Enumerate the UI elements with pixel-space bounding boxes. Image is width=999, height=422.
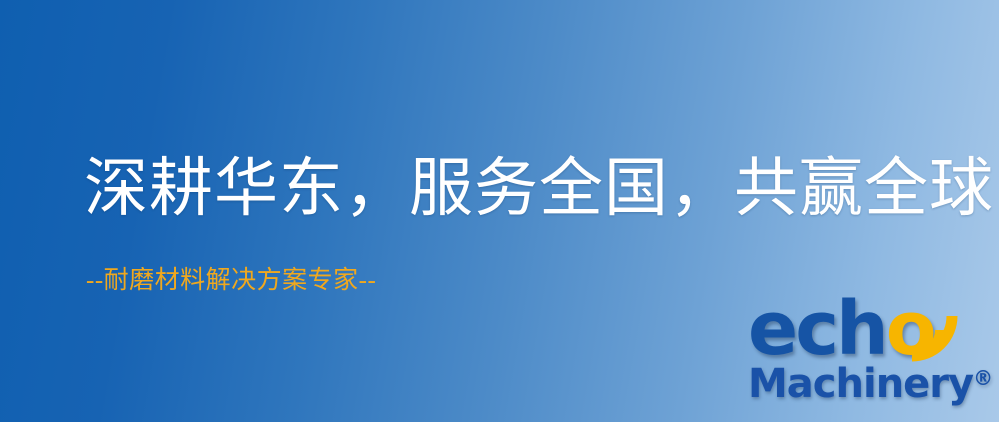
- logo-wordmark-prefix: ech: [748, 286, 886, 372]
- banner-headline: 深耕华东，服务全国，共赢全球: [84, 157, 994, 221]
- logo-subtext: Machinery®: [748, 364, 993, 404]
- promo-banner: 深耕华东，服务全国，共赢全球 --耐磨材料解决方案专家-- echo Machi…: [0, 0, 999, 422]
- registered-trademark-icon: ®: [973, 366, 993, 390]
- signal-waves-icon: [898, 288, 974, 362]
- logo-subtext-label: Machinery: [748, 361, 973, 407]
- company-logo[interactable]: echo Machinery®: [742, 292, 994, 420]
- banner-subtitle: --耐磨材料解决方案专家--: [86, 268, 376, 293]
